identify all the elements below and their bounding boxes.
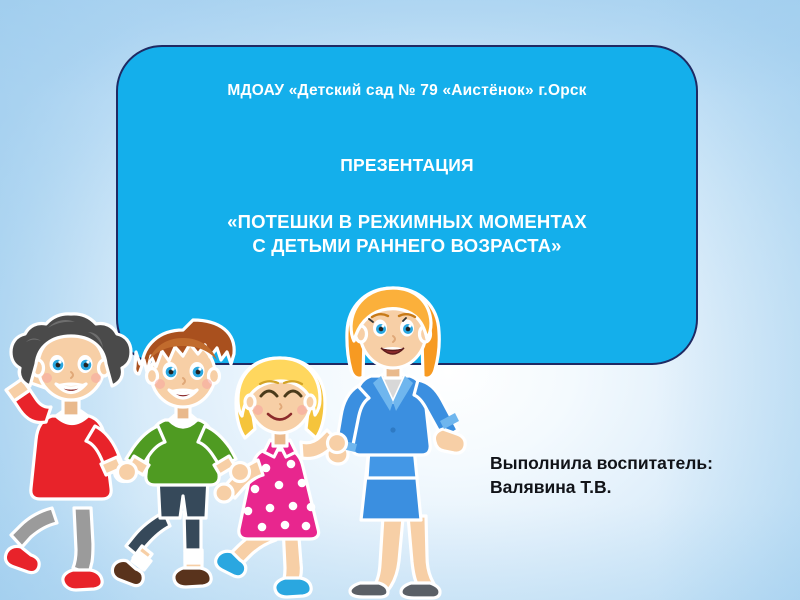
presentation-slide: МДОАУ «Детский сад № 79 «Аистёнок» г.Орс… — [0, 0, 800, 600]
organization-line: МДОАУ «Детский сад № 79 «Аистёнок» г.Орс… — [118, 82, 696, 100]
figure-boy-spiky-hair — [112, 320, 249, 587]
author-credit: Выполнила воспитатель: Валявина Т.В. — [490, 452, 790, 499]
figure-boy-curly-hair — [5, 314, 136, 590]
slide-title: «ПОТЕШКИ В РЕЖИМНЫХ МОМЕНТАХ С ДЕТЬМИ РА… — [118, 210, 696, 258]
presentation-label: ПРЕЗЕНТАЦИЯ — [118, 155, 696, 176]
illustration-group: .ol { stroke:#ffffff; stroke-width:3.2; … — [0, 280, 500, 600]
